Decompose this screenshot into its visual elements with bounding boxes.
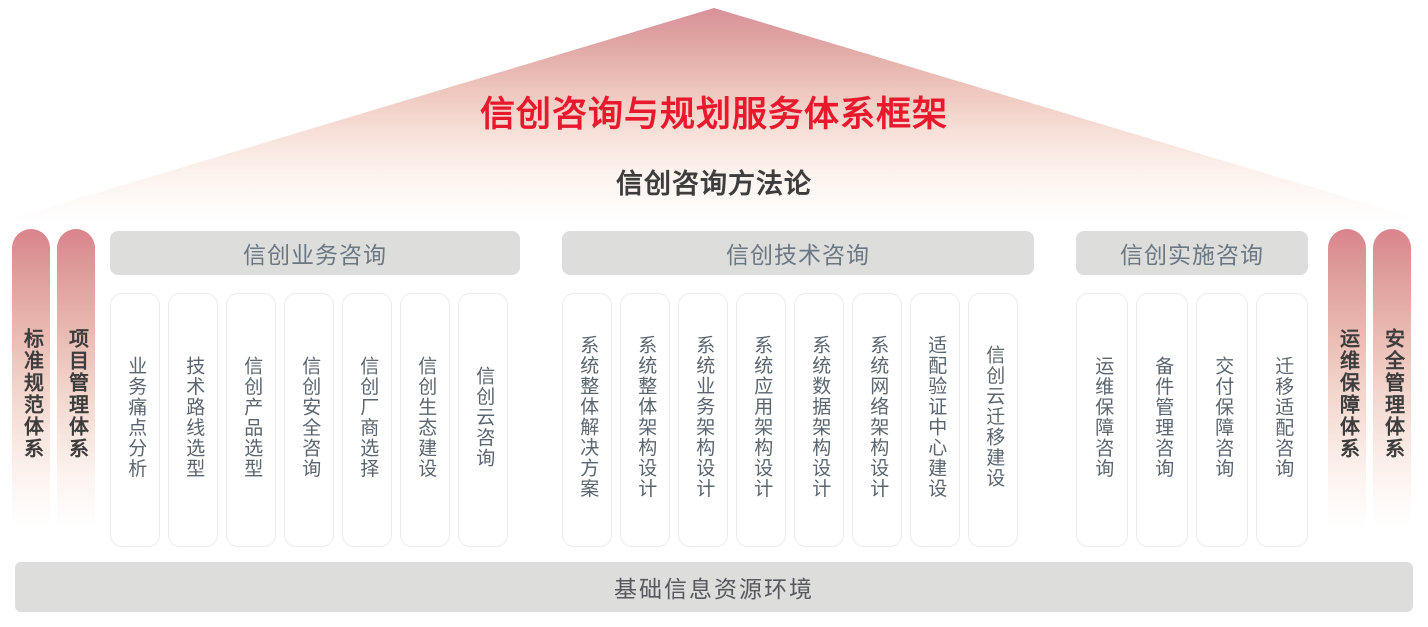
item-label: 运维保障咨询 [1092, 356, 1113, 479]
item-card[interactable]: 信创安全咨询 [284, 293, 334, 547]
item-card[interactable]: 运维保障咨询 [1076, 293, 1128, 547]
item-label: 信创生态建设 [415, 356, 436, 479]
item-label: 交付保障咨询 [1212, 356, 1233, 479]
item-card[interactable]: 信创云咨询 [458, 293, 508, 547]
item-label: 信创云咨询 [473, 366, 494, 469]
item-card[interactable]: 业务痛点分析 [110, 293, 160, 547]
item-card[interactable]: 系统整体解决方案 [562, 293, 612, 547]
item-card[interactable]: 信创云迁移建设 [968, 293, 1018, 547]
diagram-canvas: 信创咨询与规划服务体系框架 信创咨询方法论 标准规范体系 项目管理体系 运维保障… [0, 0, 1428, 627]
group-header[interactable]: 信创实施咨询 [1076, 231, 1308, 275]
item-card[interactable]: 系统数据架构设计 [794, 293, 844, 547]
item-card[interactable]: 信创生态建设 [400, 293, 450, 547]
foundation-bar[interactable]: 基础信息资源环境 [15, 562, 1413, 612]
item-card[interactable]: 适配验证中心建设 [910, 293, 960, 547]
pillar-ops-assurance-system[interactable]: 运维保障体系 [1328, 229, 1366, 547]
group-technology-consulting: 信创技术咨询 系统整体解决方案 系统整体架构设计 系统业务架构设计 系统应用架构… [562, 231, 1034, 275]
pillar-label: 标准规范体系 [21, 328, 42, 460]
item-label: 适配验证中心建设 [925, 335, 946, 499]
item-card[interactable]: 迁移适配咨询 [1256, 293, 1308, 547]
pillar-label: 运维保障体系 [1337, 328, 1358, 460]
item-label: 系统业务架构设计 [693, 335, 714, 499]
item-card[interactable]: 技术路线选型 [168, 293, 218, 547]
pillar-security-management-system[interactable]: 安全管理体系 [1373, 229, 1411, 547]
item-card[interactable]: 交付保障咨询 [1196, 293, 1248, 547]
item-label: 迁移适配咨询 [1272, 356, 1293, 479]
group-item-list: 系统整体解决方案 系统整体架构设计 系统业务架构设计 系统应用架构设计 系统数据… [562, 293, 1018, 547]
item-card[interactable]: 系统业务架构设计 [678, 293, 728, 547]
item-label: 业务痛点分析 [125, 356, 146, 479]
item-label: 系统网络架构设计 [867, 335, 888, 499]
item-label: 系统数据架构设计 [809, 335, 830, 499]
item-label: 信创产品选型 [241, 356, 262, 479]
pillar-project-management-system[interactable]: 项目管理体系 [57, 229, 95, 547]
item-card[interactable]: 系统应用架构设计 [736, 293, 786, 547]
group-item-list: 运维保障咨询 备件管理咨询 交付保障咨询 迁移适配咨询 [1076, 293, 1308, 547]
item-label: 系统整体解决方案 [577, 335, 598, 499]
group-implementation-consulting: 信创实施咨询 运维保障咨询 备件管理咨询 交付保障咨询 迁移适配咨询 [1076, 231, 1308, 275]
group-header[interactable]: 信创业务咨询 [110, 231, 520, 275]
item-label: 备件管理咨询 [1152, 356, 1173, 479]
pillar-label: 项目管理体系 [66, 328, 87, 460]
item-card[interactable]: 备件管理咨询 [1136, 293, 1188, 547]
page-subtitle: 信创咨询方法论 [0, 170, 1428, 200]
item-label: 技术路线选型 [183, 356, 204, 479]
group-header[interactable]: 信创技术咨询 [562, 231, 1034, 275]
foundation-label: 基础信息资源环境 [614, 570, 814, 604]
item-card[interactable]: 信创产品选型 [226, 293, 276, 547]
item-label: 信创厂商选择 [357, 356, 378, 479]
item-label: 信创云迁移建设 [983, 345, 1004, 489]
item-label: 信创安全咨询 [299, 356, 320, 479]
group-business-consulting: 信创业务咨询 业务痛点分析 技术路线选型 信创产品选型 信创安全咨询 信创厂商选… [110, 231, 520, 275]
item-card[interactable]: 信创厂商选择 [342, 293, 392, 547]
page-title: 信创咨询与规划服务体系框架 [0, 96, 1428, 135]
item-label: 系统应用架构设计 [751, 335, 772, 499]
item-card[interactable]: 系统整体架构设计 [620, 293, 670, 547]
item-label: 系统整体架构设计 [635, 335, 656, 499]
pillar-standard-spec-system[interactable]: 标准规范体系 [12, 229, 50, 547]
item-card[interactable]: 系统网络架构设计 [852, 293, 902, 547]
pillar-label: 安全管理体系 [1382, 328, 1403, 460]
group-item-list: 业务痛点分析 技术路线选型 信创产品选型 信创安全咨询 信创厂商选择 信创生态建… [110, 293, 508, 547]
